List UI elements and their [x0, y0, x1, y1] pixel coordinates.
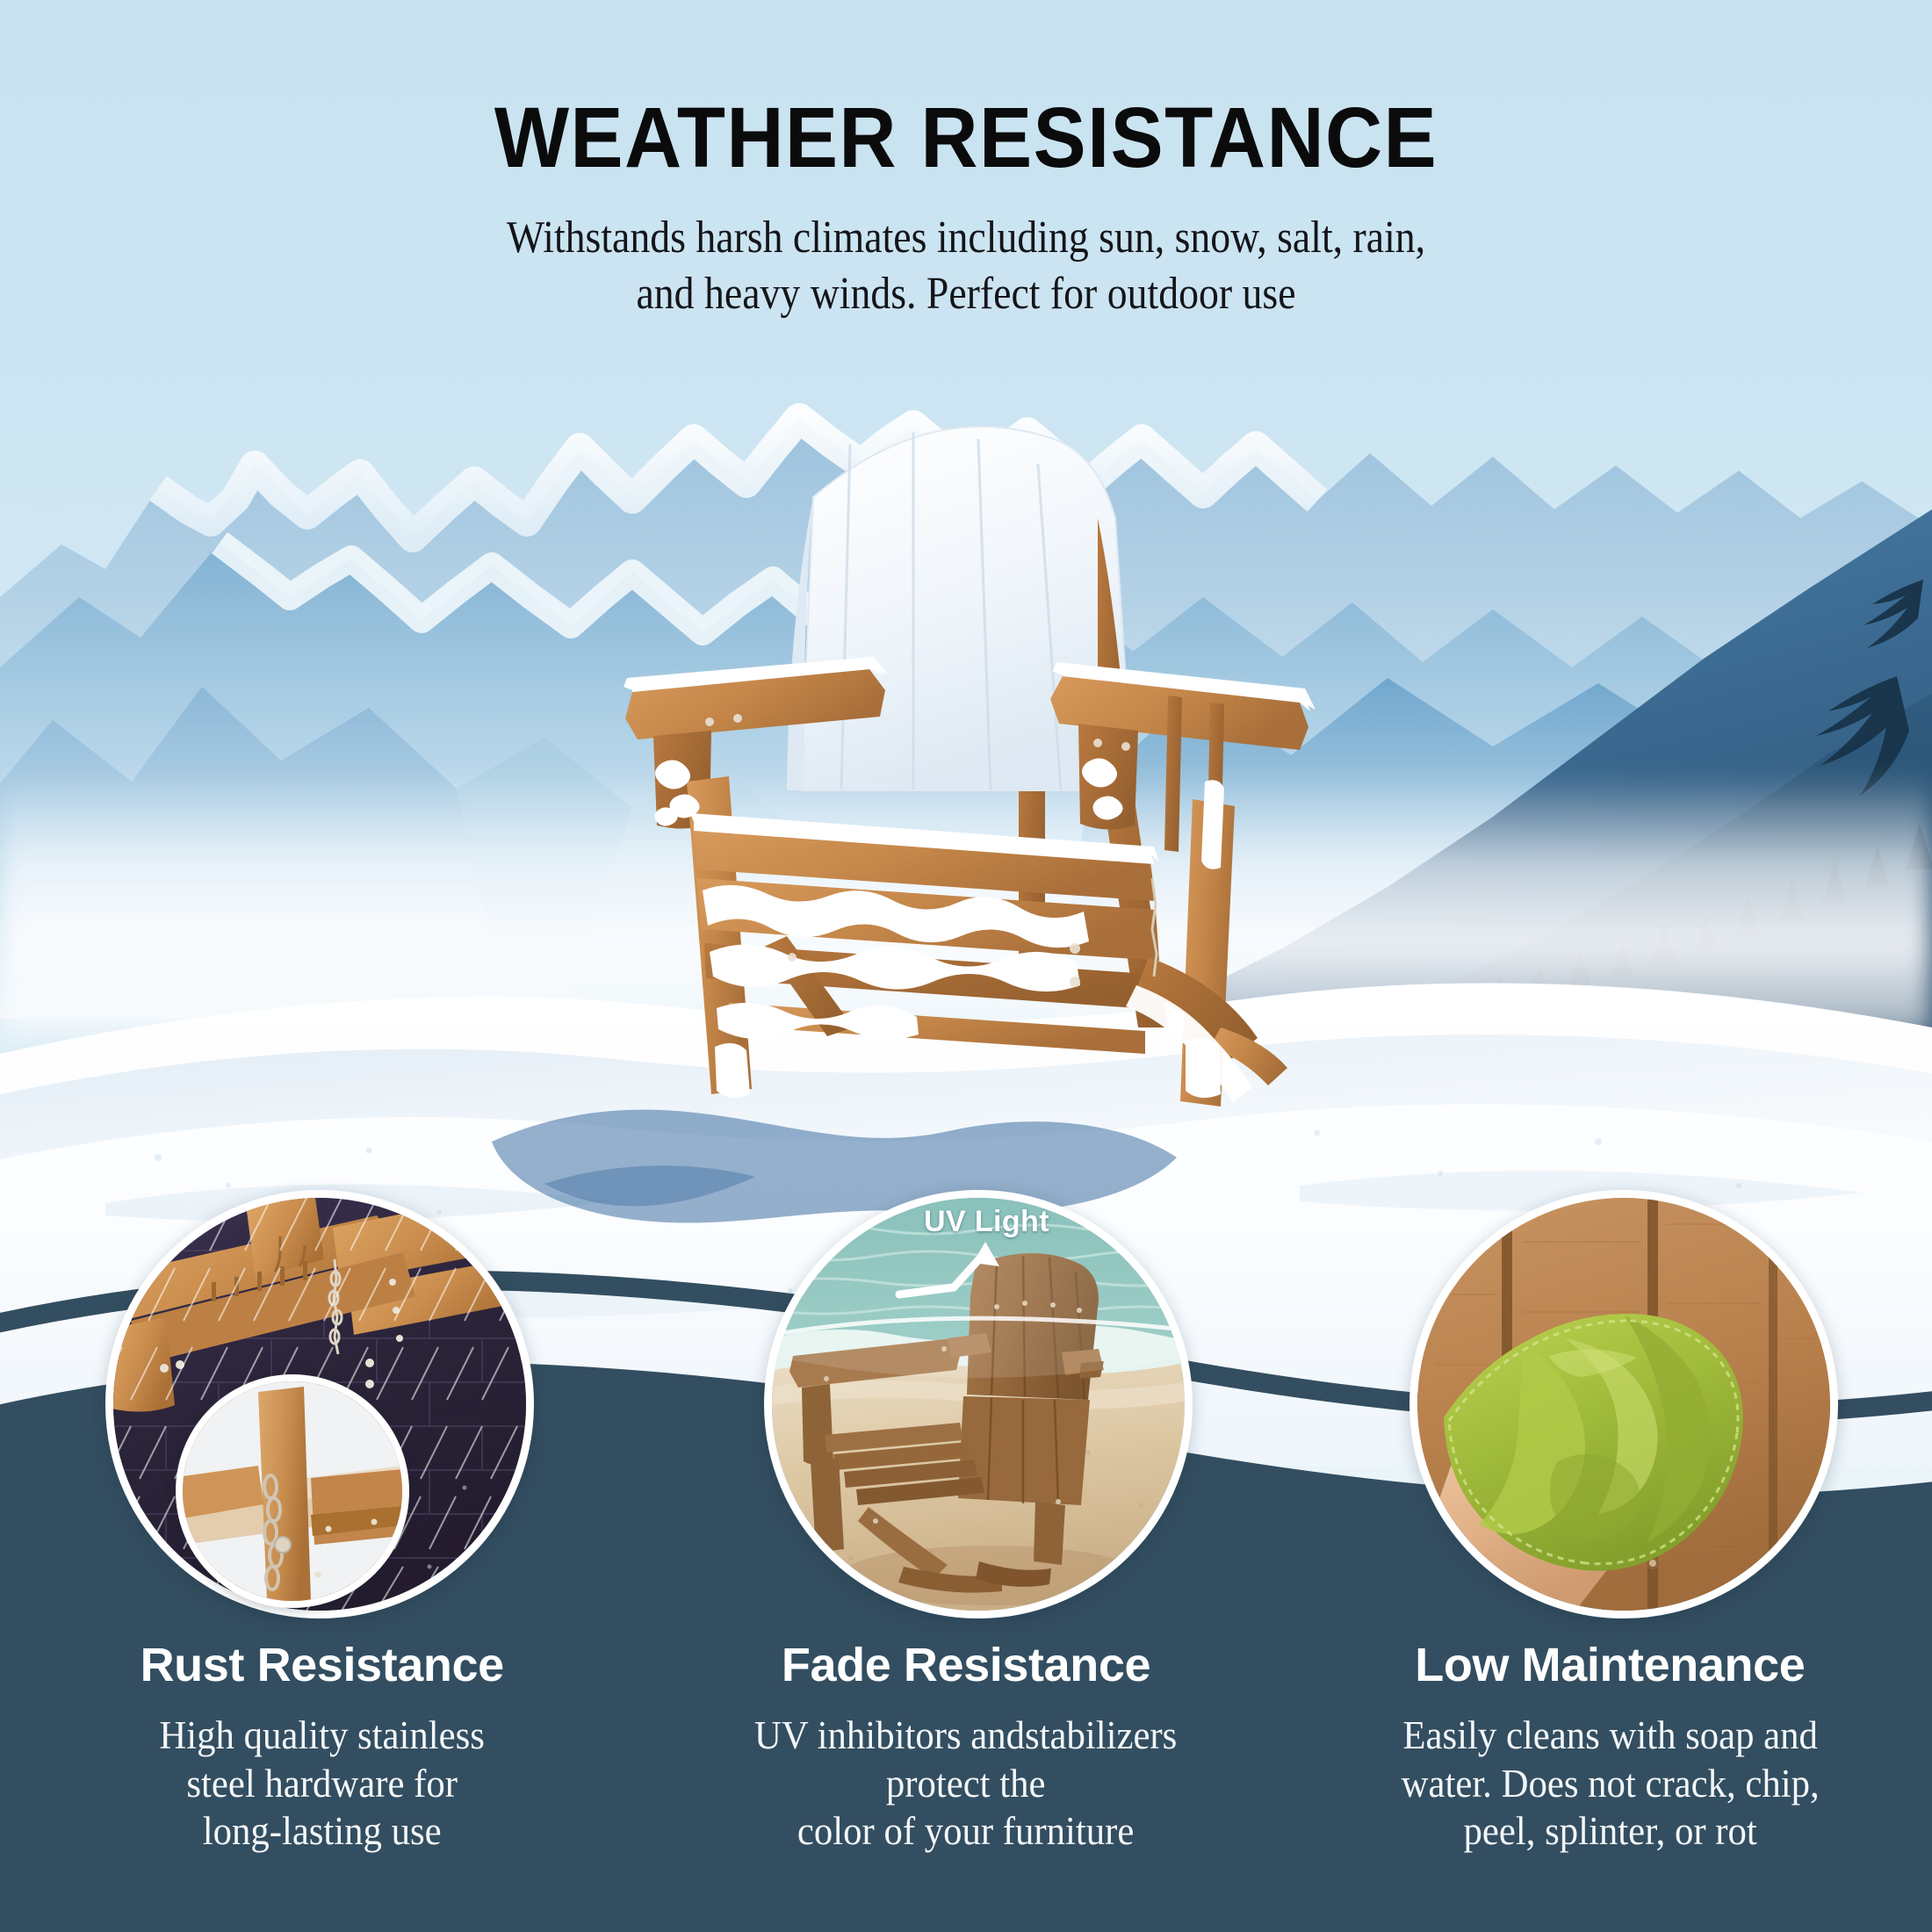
feature-image-low-maintenance[interactable] [1409, 1190, 1838, 1618]
header-block: WEATHER RESISTANCE Withstands harsh clim… [0, 0, 1932, 322]
feature-column-low-maintenance: Low Maintenance Easily cleans with soap … [1288, 1640, 1932, 1930]
feature-body-low-maintenance: Easily cleans with soap and water. Does … [1326, 1690, 1894, 1855]
feature-inset-chain-detail[interactable] [176, 1374, 409, 1608]
feature-column-fade-resistance: Fade Resistance UV inhibitors andstabili… [644, 1640, 1287, 1930]
page-title: WEATHER RESISTANCE [68, 0, 1864, 180]
feature-body-line: High quality stainless [159, 1713, 484, 1757]
feature-heading-fade-resistance: Fade Resistance [667, 1640, 1265, 1690]
feature-body-rust-resistance: High quality stainless steel hardware fo… [38, 1690, 606, 1855]
feature-body-line: peel, splinter, or rot [1463, 1809, 1756, 1853]
feature-body-line: UV inhibitors andstabilizers [754, 1713, 1177, 1757]
feature-column-rust-resistance: Rust Resistance High quality stainless s… [0, 1640, 644, 1930]
subtitle-line-1: Withstands harsh climates including sun,… [507, 213, 1425, 263]
chain-connector [275, 1537, 291, 1553]
feature-body-line: water. Does not crack, chip, [1401, 1762, 1819, 1806]
page-subtitle: Withstands harsh climates including sun,… [116, 180, 1816, 322]
feature-text-row: Rust Resistance High quality stainless s… [0, 1640, 1932, 1930]
hand-wiping-teak-scene [1417, 1198, 1830, 1611]
feature-body-line: color of your furniture [797, 1809, 1134, 1853]
chain-hardware-closeup-scene [183, 1381, 402, 1601]
infographic-canvas: WEATHER RESISTANCE Withstands harsh clim… [0, 0, 1932, 1932]
feature-body-line: long-lasting use [203, 1809, 442, 1853]
feature-body-line: steel hardware for [186, 1762, 458, 1806]
feature-body-fade-resistance: UV inhibitors andstabilizers protect the… [681, 1690, 1250, 1855]
hero-snow-covered-adirondack-chair [606, 413, 1326, 1142]
uv-light-label: UV Light [924, 1205, 1049, 1239]
feature-body-line: Easily cleans with soap and [1402, 1713, 1818, 1757]
uv-light-arrow-icon [889, 1236, 1020, 1333]
feature-heading-low-maintenance: Low Maintenance [1311, 1640, 1909, 1690]
subtitle-line-2: and heavy winds. Perfect for outdoor use [636, 269, 1295, 319]
feature-heading-rust-resistance: Rust Resistance [23, 1640, 621, 1690]
feature-body-line: protect the [886, 1762, 1046, 1806]
